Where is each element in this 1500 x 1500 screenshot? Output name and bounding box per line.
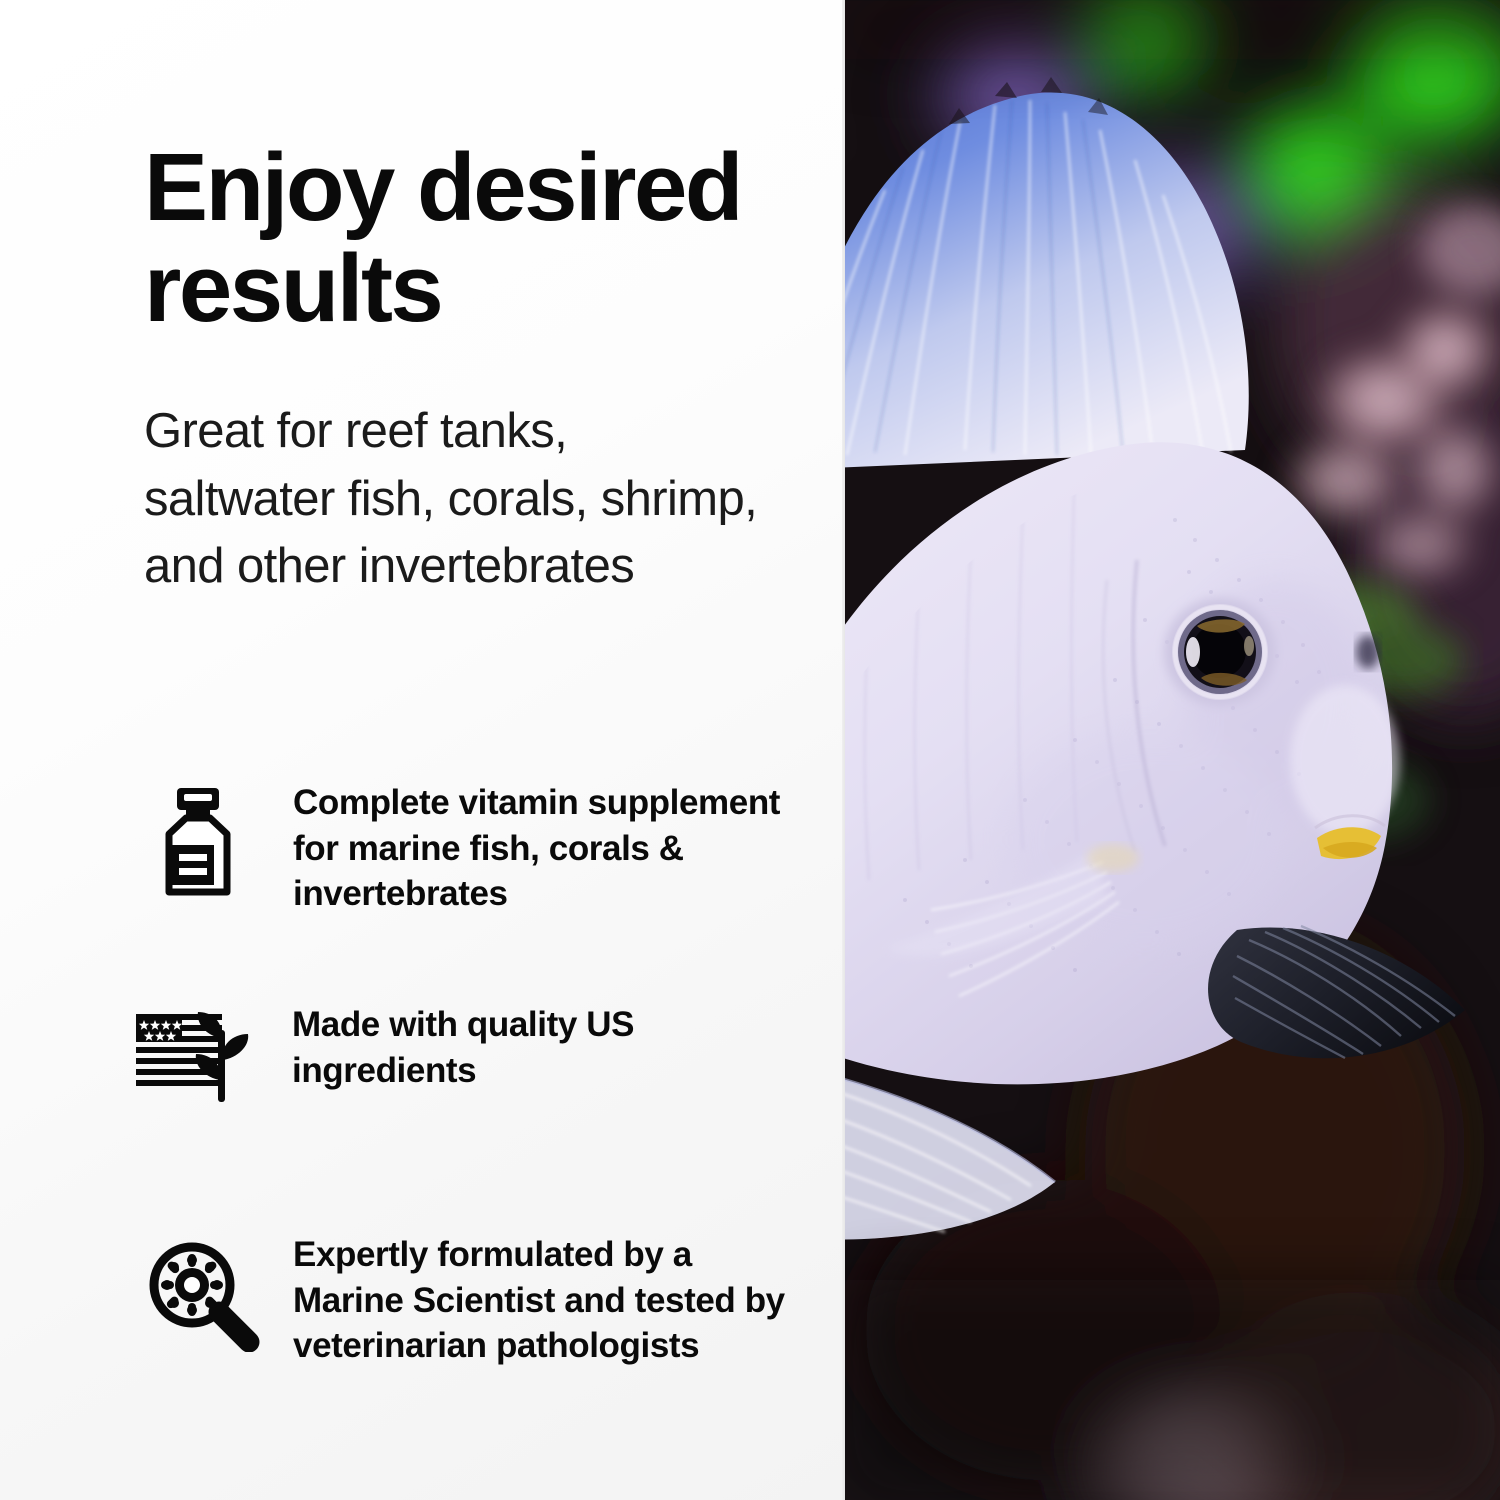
us-flag-plant-icon: [134, 1008, 264, 1104]
product-feature-banner: Enjoy desired results Great for reef tan…: [0, 0, 1500, 1500]
feature-label: Made with quality US ingredients: [292, 1002, 722, 1093]
supplement-bottle-icon: [155, 786, 241, 896]
page-title: Enjoy desired results: [144, 138, 824, 340]
list-item: Expertly formulated by a Marine Scientis…: [145, 1232, 803, 1369]
copy-panel: Enjoy desired results Great for reef tan…: [0, 0, 845, 1500]
subheadline: Great for reef tanks, saltwater fish, co…: [144, 398, 764, 601]
list-item: Made with quality US ingredients: [134, 1002, 722, 1104]
product-photo: [845, 0, 1500, 1500]
feature-label: Expertly formulated by a Marine Scientis…: [293, 1232, 803, 1369]
feature-label: Complete vitamin supplement for marine f…: [293, 780, 798, 917]
magnifier-microbe-icon: [145, 1240, 263, 1352]
list-item: Complete vitamin supplement for marine f…: [155, 780, 798, 917]
